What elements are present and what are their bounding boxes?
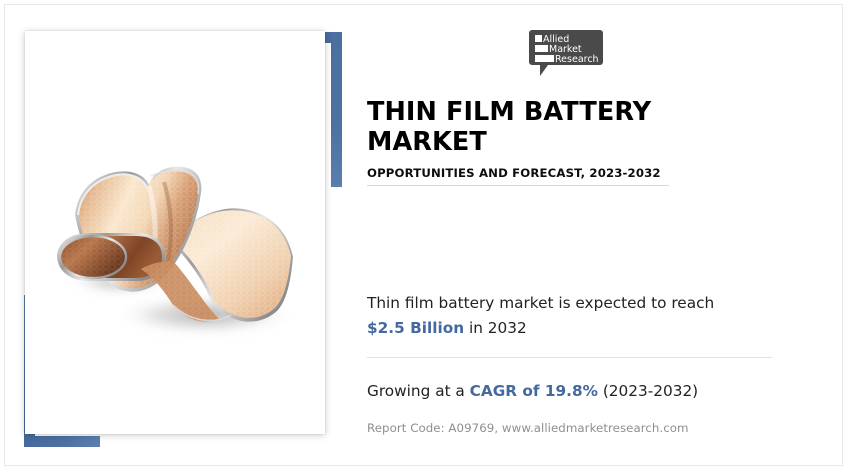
visual-panel xyxy=(8,8,356,462)
content-panel: Allied Market Research THIN FILM BATTERY… xyxy=(360,8,840,462)
market-value-amount: $2.5 Billion xyxy=(367,319,464,337)
market-value-block: Thin film battery market is expected to … xyxy=(367,291,772,358)
report-banner: Allied Market Research THIN FILM BATTERY… xyxy=(0,0,847,470)
cagr-text-after: (2023-2032) xyxy=(598,382,698,400)
market-value-text-after: in 2032 xyxy=(464,319,527,337)
page-title: THIN FILM BATTERY MARKET xyxy=(367,97,697,157)
allied-market-research-logo: Allied Market Research xyxy=(526,28,606,78)
thin-film-battery-foil-image xyxy=(37,129,312,349)
cagr-text-before: Growing at a xyxy=(367,382,470,400)
cagr-block: Growing at a CAGR of 19.8% (2023-2032) xyxy=(367,379,772,404)
product-image-card xyxy=(25,31,325,434)
market-value-statement: Thin film battery market is expected to … xyxy=(367,291,772,340)
cagr-value: CAGR of 19.8% xyxy=(470,382,598,400)
page-subtitle: OPPORTUNITIES AND FORECAST, 2023-2032 xyxy=(367,166,669,180)
logo-line-3: Research xyxy=(555,54,599,65)
market-value-text-before: Thin film battery market is expected to … xyxy=(367,294,714,312)
subtitle-block: OPPORTUNITIES AND FORECAST, 2023-2032 xyxy=(367,166,669,186)
cagr-statement: Growing at a CAGR of 19.8% (2023-2032) xyxy=(367,379,772,404)
report-code-footer: Report Code: A09769, www.alliedmarketres… xyxy=(367,421,689,435)
corner-bracket-top-right-vertical xyxy=(331,32,342,187)
corner-bracket-bottom-left-horizontal xyxy=(24,436,100,447)
